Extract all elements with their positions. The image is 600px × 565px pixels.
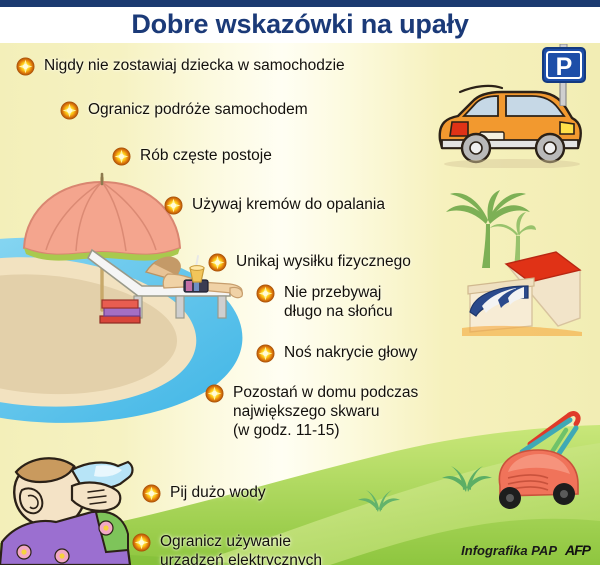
sun-bullet-icon xyxy=(132,533,151,552)
tip-text: Rób częste postoje xyxy=(140,146,272,165)
sun-bullet-icon xyxy=(205,384,224,403)
sun-bullet-icon xyxy=(256,284,275,303)
sun-bullet-icon xyxy=(60,101,79,120)
tip-item[interactable]: Nie przebywaj długo na słońcu xyxy=(256,283,393,321)
tip-item[interactable]: Unikaj wysiłku fizycznego xyxy=(208,252,411,272)
tip-text: Używaj kremów do opalania xyxy=(192,195,385,214)
sun-bullet-icon xyxy=(142,484,161,503)
infographic-poster: P xyxy=(0,0,600,565)
tip-item[interactable]: Nigdy nie zostawiaj dziecka w samochodzi… xyxy=(16,56,345,76)
tip-text: Nie przebywaj długo na słońcu xyxy=(284,283,393,321)
tip-text: Pozostań w domu podczas największego skw… xyxy=(233,383,418,440)
afp-logo: AFP xyxy=(565,542,590,558)
grass-tuft-icon xyxy=(440,466,494,492)
sun-bullet-icon xyxy=(164,196,183,215)
tip-item[interactable]: Rób częste postoje xyxy=(112,146,272,166)
credit: Infografika PAP AFP xyxy=(461,542,590,558)
tip-item[interactable]: Używaj kremów do opalania xyxy=(164,195,385,215)
tip-text: Unikaj wysiłku fizycznego xyxy=(236,252,411,271)
tip-item[interactable]: Ogranicz podróże samochodem xyxy=(60,100,308,120)
tip-item[interactable]: Noś nakrycie głowy xyxy=(256,343,418,363)
tip-text: Pij dużo wody xyxy=(170,483,266,502)
tip-item[interactable]: Pozostań w domu podczas największego skw… xyxy=(205,383,418,440)
lawn-mower-illustration xyxy=(486,408,592,518)
tip-item[interactable]: Ogranicz używanie urządzeń elektrycznych xyxy=(132,532,322,565)
tip-item[interactable]: Pij dużo wody xyxy=(142,483,266,503)
credit-text: Infografika PAP xyxy=(461,543,557,558)
sun-bullet-icon xyxy=(112,147,131,166)
tip-text: Noś nakrycie głowy xyxy=(284,343,418,362)
page-title: Dobre wskazówki na upały xyxy=(0,7,600,43)
sun-bullet-icon xyxy=(16,57,35,76)
svg-text:P: P xyxy=(556,53,573,81)
sun-bullet-icon xyxy=(208,253,227,272)
top-rule xyxy=(0,0,600,7)
tip-text: Ogranicz podróże samochodem xyxy=(88,100,308,119)
house-with-awning-illustration xyxy=(462,244,584,336)
grass-tuft-icon xyxy=(356,490,402,512)
tip-text: Ogranicz używanie urządzeń elektrycznych xyxy=(160,532,322,565)
sun-bullet-icon xyxy=(256,344,275,363)
tip-text: Nigdy nie zostawiaj dziecka w samochodzi… xyxy=(44,56,345,75)
person-drinking-water-illustration xyxy=(0,456,150,565)
parking-sign-icon: P xyxy=(540,44,588,106)
